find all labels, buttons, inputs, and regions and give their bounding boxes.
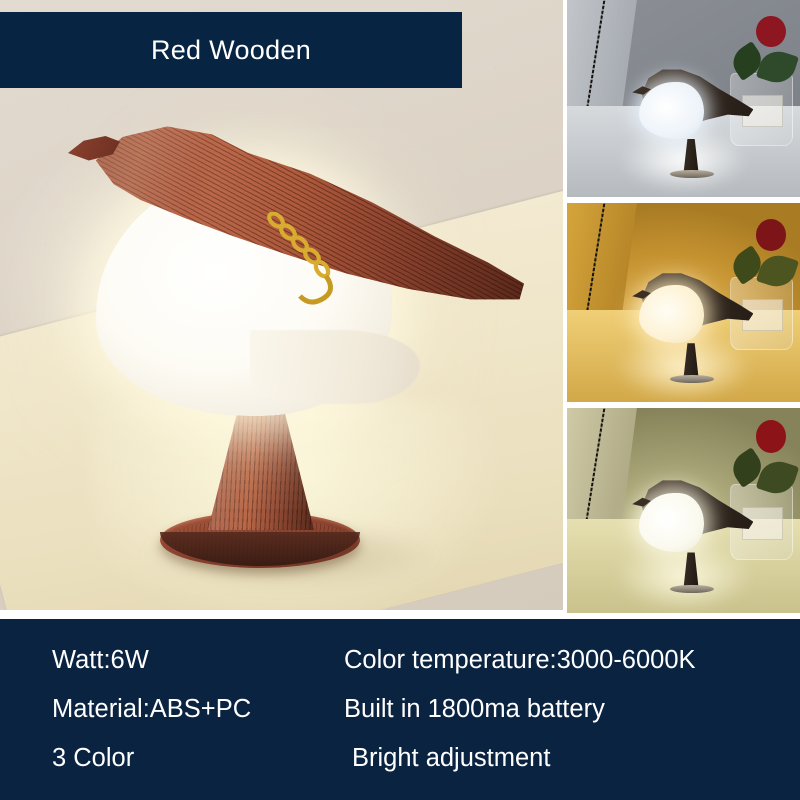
spec-watt: Watt:6W: [52, 646, 344, 675]
thumbnail-cool-white[interactable]: [567, 0, 800, 197]
spec-row: Watt:6W Color temperature:3000-6000K: [52, 636, 800, 685]
lamp-shade-taper: [250, 330, 420, 404]
thumbnail-column: [567, 0, 800, 619]
spec-battery: Built in 1800ma battery: [344, 695, 605, 724]
thumbnail-bird-lamp: [637, 59, 754, 146]
thumbnail-bird-lamp: [637, 470, 754, 560]
thumbnail-bird-lamp: [637, 263, 754, 351]
variant-title-banner: Red Wooden: [0, 12, 462, 88]
gold-chain-pull-icon: [262, 212, 358, 312]
variant-title: Red Wooden: [151, 35, 311, 66]
spec-color-modes: 3 Color: [52, 744, 344, 773]
specifications-panel: Watt:6W Color temperature:3000-6000K Mat…: [0, 619, 800, 800]
spec-row: 3 Color Bright adjustment: [52, 734, 800, 783]
spec-row: Material:ABS+PC Built in 1800ma battery: [52, 685, 800, 734]
spec-brightness: Bright adjustment: [344, 744, 550, 773]
thumbnail-natural-white[interactable]: [567, 408, 800, 613]
thumbnail-warm-white[interactable]: [567, 203, 800, 402]
hero-product-photo: [0, 0, 563, 610]
scene-rose-icon: [756, 16, 786, 48]
scene-rose-icon: [756, 219, 786, 251]
spec-material: Material:ABS+PC: [52, 695, 344, 724]
scene-rose-icon: [756, 420, 786, 453]
spec-color-temperature: Color temperature:3000-6000K: [344, 646, 696, 675]
product-listing-image: Red Wooden: [0, 0, 800, 800]
